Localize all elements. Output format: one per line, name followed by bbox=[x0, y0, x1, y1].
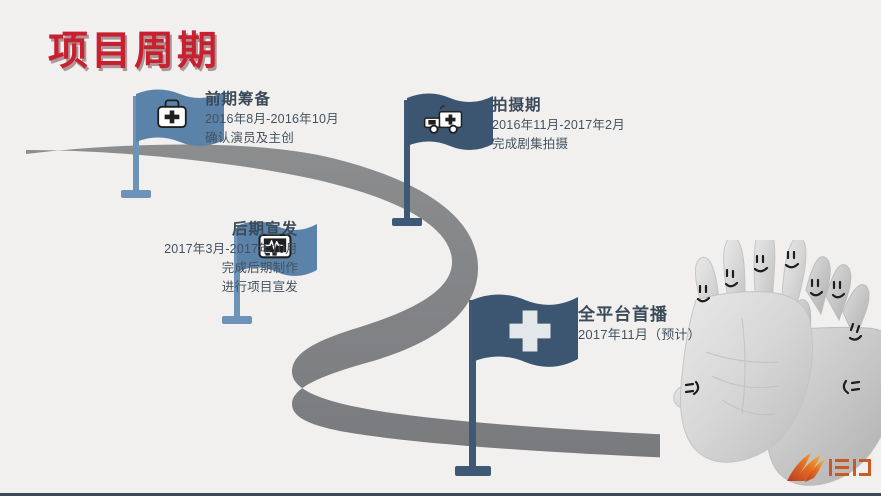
orange-flame-logo bbox=[783, 449, 875, 487]
slide-canvas: 前期筹备 2016年8月-2016年10月 确认演员及主创 拍摄期 2016年1… bbox=[0, 0, 881, 496]
title-layer: 项目周期 bbox=[0, 0, 881, 496]
page-title: 项目周期 bbox=[48, 18, 220, 76]
